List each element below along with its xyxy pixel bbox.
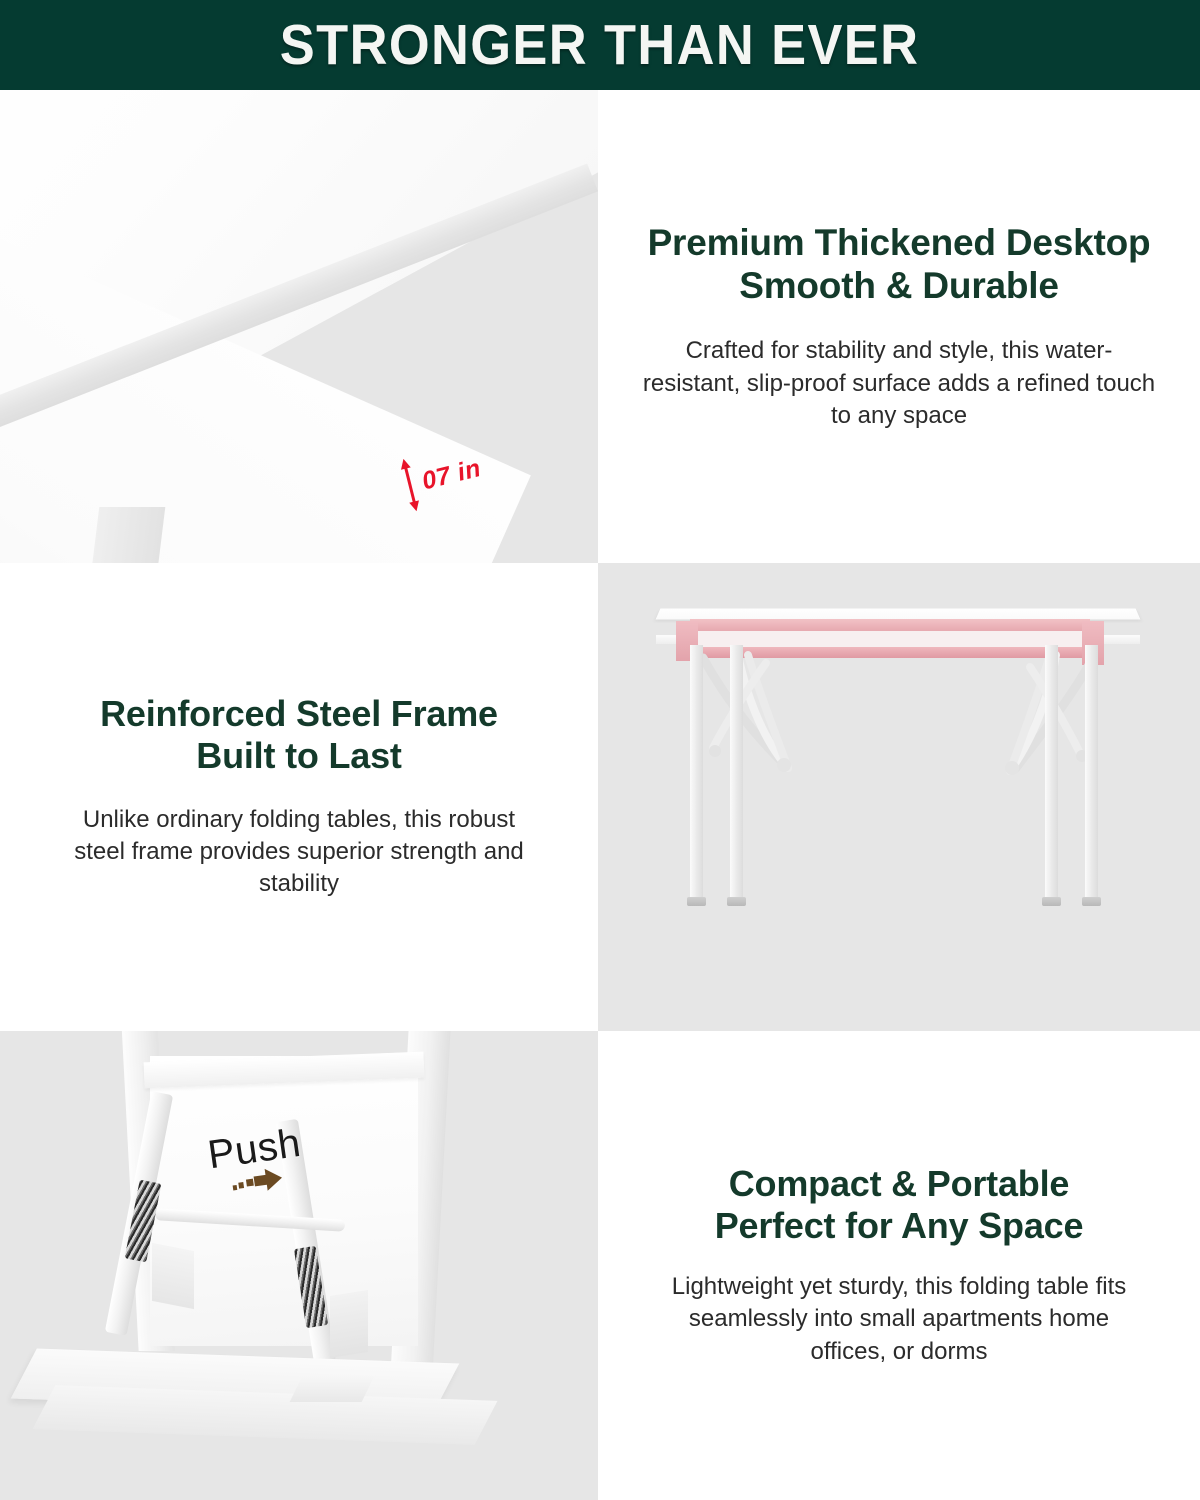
desktop-thickness-photo: 07 in xyxy=(0,90,598,563)
banner-title: STRONGER THAN EVER xyxy=(280,12,920,78)
headline-line-1: Reinforced Steel Frame xyxy=(100,693,498,735)
leg-foot xyxy=(727,897,746,906)
table-leg-back-left xyxy=(730,645,743,900)
diagonal-braces xyxy=(598,563,1200,1031)
table-leg-front-right xyxy=(1085,645,1098,900)
leg-foot xyxy=(687,897,706,906)
base-foot-pad xyxy=(290,1376,375,1402)
hinge-bracket-right xyxy=(330,1290,368,1358)
headline-line-2: Smooth & Durable xyxy=(648,264,1151,307)
thickness-label: 07 in xyxy=(419,453,484,496)
premium-desktop-body: Crafted for stability and style, this wa… xyxy=(639,335,1159,432)
headline-line-2: Perfect for Any Space xyxy=(715,1205,1084,1247)
headline-line-1: Compact & Portable xyxy=(715,1163,1084,1205)
headline-line-1: Premium Thickened Desktop xyxy=(648,221,1151,264)
folding-mechanism-photo: Push xyxy=(0,1031,598,1500)
headline-line-2: Built to Last xyxy=(100,735,498,777)
feature-grid: 07 in Premium Thickened Desktop Smooth &… xyxy=(0,90,1200,1500)
steel-frame-headline: Reinforced Steel Frame Built to Last xyxy=(100,693,498,777)
steel-frame-body: Unlike ordinary folding tables, this rob… xyxy=(64,804,534,901)
premium-desktop-text: Premium Thickened Desktop Smooth & Durab… xyxy=(598,90,1200,563)
leg-foot xyxy=(1082,897,1101,906)
header-banner: STRONGER THAN EVER xyxy=(0,0,1200,90)
compact-portable-headline: Compact & Portable Perfect for Any Space xyxy=(715,1163,1084,1247)
push-instruction: Push xyxy=(205,1121,308,1209)
desktop-leg xyxy=(91,507,166,563)
table-leg-back-right xyxy=(1045,645,1058,900)
steel-frame-text: Reinforced Steel Frame Built to Last Unl… xyxy=(0,563,598,1031)
compact-portable-text: Compact & Portable Perfect for Any Space… xyxy=(598,1031,1200,1500)
compact-portable-body: Lightweight yet sturdy, this folding tab… xyxy=(649,1271,1149,1368)
hinge-bracket-left xyxy=(152,1243,194,1309)
premium-desktop-headline: Premium Thickened Desktop Smooth & Durab… xyxy=(648,221,1151,308)
folding-table-photo xyxy=(598,563,1200,1031)
table-leg-front-left xyxy=(690,645,703,900)
leg-foot xyxy=(1042,897,1061,906)
